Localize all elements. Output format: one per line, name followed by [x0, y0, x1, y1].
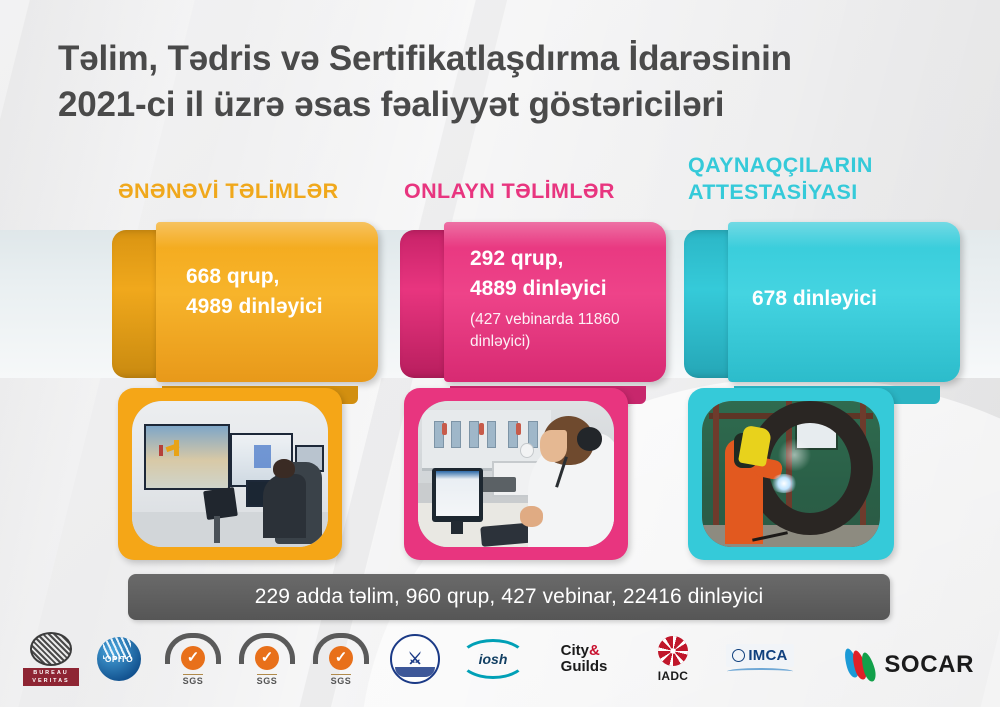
bureau-veritas-caption: BUREAU VERITAS	[23, 668, 79, 687]
sgs-iso-logo-2: ✓ SGS	[230, 632, 304, 686]
opito-label: OPITO	[105, 654, 133, 664]
column-header-welders-line-2: ATTESTASİYASI	[688, 179, 873, 206]
imca-wave-icon	[727, 668, 793, 675]
socar-flame-icon	[846, 648, 876, 682]
photo-frame	[132, 401, 328, 547]
photo-panel-traditional	[118, 388, 342, 560]
globe-icon	[732, 649, 745, 662]
page-title-line-2: 2021-ci il üzrə əsas fəaliyyət göstərici…	[58, 82, 958, 128]
sgs-iso-logo-1: ✓ SGS	[156, 632, 230, 686]
stat-value-line-1: 668 qrup,	[186, 262, 323, 292]
stat-value-line-1: 292 qrup,	[470, 244, 660, 274]
iosh-label: iosh	[479, 651, 508, 667]
summary-text: 229 adda təlim, 960 qrup, 427 vebinar, 2…	[255, 585, 764, 609]
socar-wordmark: SOCAR	[884, 651, 974, 679]
iadc-label: IADC	[658, 669, 689, 683]
accreditation-logo-strip: BUREAU VERITAS OPITO ✓ SGS ✓ SGS ✓	[20, 628, 900, 690]
sgs-check-icon: ✓	[329, 646, 353, 670]
summary-bar: 229 adda təlim, 960 qrup, 427 vebinar, 2…	[128, 574, 890, 620]
photo-panel-online	[404, 388, 628, 560]
ribbon-body: 292 qrup, 4889 dinləyici (427 vebinarda …	[444, 222, 666, 382]
column-header-traditional: ƏNƏNƏVİ TƏLİMLƏR	[118, 178, 339, 205]
photo-frame	[418, 401, 614, 547]
simulator-training-photo	[132, 401, 328, 547]
sgs-label: SGS	[183, 674, 204, 686]
bureau-veritas-seal-icon	[30, 632, 72, 666]
city-and-guilds-line-1: City	[561, 642, 589, 659]
photo-panel-welders	[688, 388, 894, 560]
page-title: Təlim, Tədris və Sertifikatlaşdırma İdar…	[58, 36, 958, 128]
column-header-welders: QAYNAQÇILARIN ATTESTASİYASI	[688, 152, 873, 205]
stat-value-line-1: 678 dinləyici	[752, 284, 877, 314]
sgs-iso-logo-3: ✓ SGS	[304, 632, 378, 686]
iso-9001-seal-icon: ⚔	[390, 634, 440, 684]
iosh-logo: iosh	[452, 632, 534, 686]
stat-value-online: 292 qrup, 4889 dinləyici (427 vebinarda …	[470, 244, 660, 353]
bureau-veritas-line-1: BUREAU	[23, 669, 79, 677]
imca-logo: IMCA	[712, 632, 808, 686]
online-training-photo	[418, 401, 614, 547]
sgs-check-icon: ✓	[255, 646, 279, 670]
imca-wordmark: IMCA	[726, 644, 793, 667]
city-and-guilds-line-2: Guilds	[561, 659, 608, 675]
sgs-arc-icon: ✓	[313, 633, 369, 664]
column-header-online: ONLAYN TƏLİMLƏR	[404, 178, 615, 205]
ribbon-gloss	[156, 222, 378, 248]
stat-value-line-2: 4889 dinləyici	[470, 274, 660, 304]
bureau-veritas-line-2: VERITAS	[23, 677, 79, 685]
column-header-welders-line-1: QAYNAQÇILARIN	[688, 152, 873, 179]
ampersand-icon: &	[589, 642, 600, 659]
stat-value-line-2: 4989 dinləyici	[186, 292, 323, 322]
socar-logo: SOCAR	[846, 648, 974, 682]
sgs-check-icon: ✓	[181, 646, 205, 670]
imca-label: IMCA	[748, 647, 787, 664]
stat-card-online: 292 qrup, 4889 dinləyici (427 vebinarda …	[400, 222, 666, 390]
iosh-wreath-icon: iosh	[459, 639, 527, 679]
sgs-arc-icon: ✓	[165, 633, 221, 664]
ribbon-body: 668 qrup, 4989 dinləyici	[156, 222, 378, 382]
opito-circle-icon: OPITO	[97, 637, 141, 681]
iso-9001-logo: ⚔	[378, 632, 452, 686]
ribbon-gloss	[728, 222, 960, 248]
iadc-pinwheel-icon	[658, 636, 688, 666]
stat-note-online: (427 vebinarda 11860 dinləyici)	[470, 309, 660, 353]
bureau-veritas-logo: BUREAU VERITAS	[20, 632, 82, 686]
city-and-guilds-wordmark: City& Guilds	[561, 643, 608, 675]
iadc-logo: IADC	[634, 632, 712, 686]
sgs-label: SGS	[331, 674, 352, 686]
welder-attestation-photo	[702, 401, 880, 547]
stat-value-welders: 678 dinləyici	[752, 284, 877, 314]
stat-card-traditional: 668 qrup, 4989 dinləyici	[112, 222, 378, 390]
sgs-arc-icon: ✓	[239, 633, 295, 664]
infographic-canvas: Təlim, Tədris və Sertifikatlaşdırma İdar…	[0, 0, 1000, 707]
stat-card-welders: 678 dinləyici	[684, 222, 950, 390]
city-and-guilds-logo: City& Guilds	[534, 632, 634, 686]
photo-frame	[702, 401, 880, 547]
opito-logo: OPITO	[82, 632, 156, 686]
page-title-line-1: Təlim, Tədris və Sertifikatlaşdırma İdar…	[58, 36, 958, 82]
sgs-label: SGS	[257, 674, 278, 686]
ribbon-body: 678 dinləyici	[728, 222, 960, 382]
stat-value-traditional: 668 qrup, 4989 dinləyici	[186, 262, 323, 323]
